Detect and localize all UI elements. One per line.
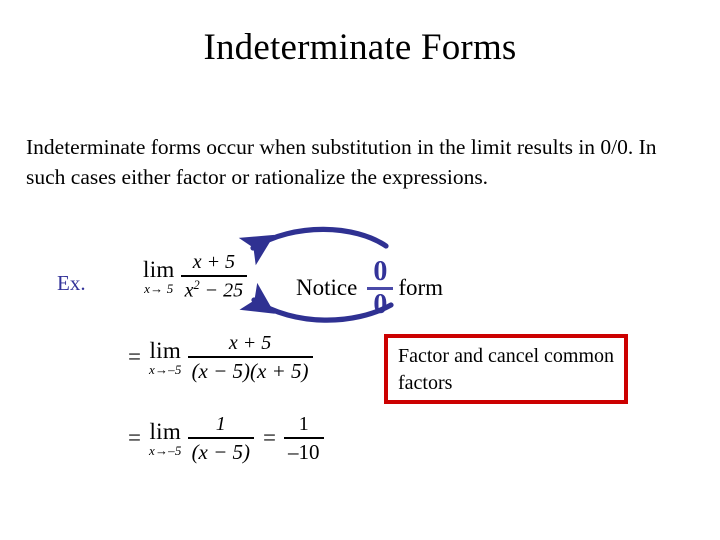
math-expression-line-1: lim x→ 5 x + 5 x2 − 25 bbox=[140, 252, 250, 301]
equals-sign-3b: = bbox=[263, 425, 276, 451]
fraction-1-bar bbox=[181, 275, 248, 277]
fraction-2-numerator: x + 5 bbox=[225, 333, 275, 354]
fraction-1-numerator: x + 5 bbox=[189, 252, 239, 273]
math-expression-line-3: = lim x→–5 1 (x − 5) = 1 –10 bbox=[128, 414, 327, 463]
denominator-rest: − 25 bbox=[200, 279, 244, 301]
limit-operator-2: lim x→–5 bbox=[149, 339, 182, 376]
fraction-result: 1 –10 bbox=[284, 414, 324, 463]
fraction-result-denominator: –10 bbox=[284, 441, 324, 463]
limit-subscript-3: x→–5 bbox=[149, 444, 182, 457]
fraction-1: x + 5 x2 − 25 bbox=[181, 252, 248, 301]
slide-canvas: Indeterminate Forms Indeterminate forms … bbox=[0, 0, 720, 540]
limit-word-2: lim bbox=[149, 339, 181, 362]
fraction-result-numerator: 1 bbox=[295, 414, 313, 435]
fraction-2: x + 5 (x − 5)(x + 5) bbox=[188, 333, 313, 382]
arrow-to-numerator bbox=[253, 229, 386, 248]
example-label: Ex. bbox=[57, 271, 86, 296]
page-title: Indeterminate Forms bbox=[0, 26, 720, 70]
fraction-3-denominator: (x − 5) bbox=[188, 441, 254, 463]
limit-subscript-2: x→–5 bbox=[149, 363, 182, 376]
body-paragraph: Indeterminate forms occur when substitut… bbox=[26, 132, 686, 192]
limit-operator-3: lim x→–5 bbox=[149, 420, 182, 457]
fraction-1-denominator: x2 − 25 bbox=[181, 279, 248, 302]
fraction-2-bar bbox=[188, 356, 313, 358]
limit-word-3: lim bbox=[149, 420, 181, 443]
fraction-result-bar bbox=[284, 437, 324, 439]
zero-denominator: 0 bbox=[373, 291, 387, 319]
form-word: form bbox=[398, 275, 443, 301]
fraction-2-denominator: (x − 5)(x + 5) bbox=[188, 360, 313, 382]
callout-box: Factor and cancel common factors bbox=[384, 334, 628, 404]
fraction-3-bar bbox=[188, 437, 254, 439]
math-expression-line-2: = lim x→–5 x + 5 (x − 5)(x + 5) bbox=[128, 333, 316, 382]
notice-annotation: Notice 0 0 form bbox=[296, 258, 443, 319]
zero-numerator: 0 bbox=[373, 258, 387, 286]
limit-operator-1: lim x→ 5 bbox=[143, 258, 175, 295]
zero-over-zero-fraction: 0 0 bbox=[367, 258, 393, 319]
notice-word: Notice bbox=[296, 275, 357, 301]
fraction-3: 1 (x − 5) bbox=[188, 414, 254, 463]
limit-subscript-1: x→ 5 bbox=[144, 282, 173, 295]
callout-text: Factor and cancel common factors bbox=[398, 343, 624, 397]
equals-sign-3: = bbox=[128, 425, 141, 451]
fraction-3-numerator: 1 bbox=[212, 414, 230, 435]
limit-word-1: lim bbox=[143, 258, 175, 281]
equals-sign-2: = bbox=[128, 344, 141, 370]
